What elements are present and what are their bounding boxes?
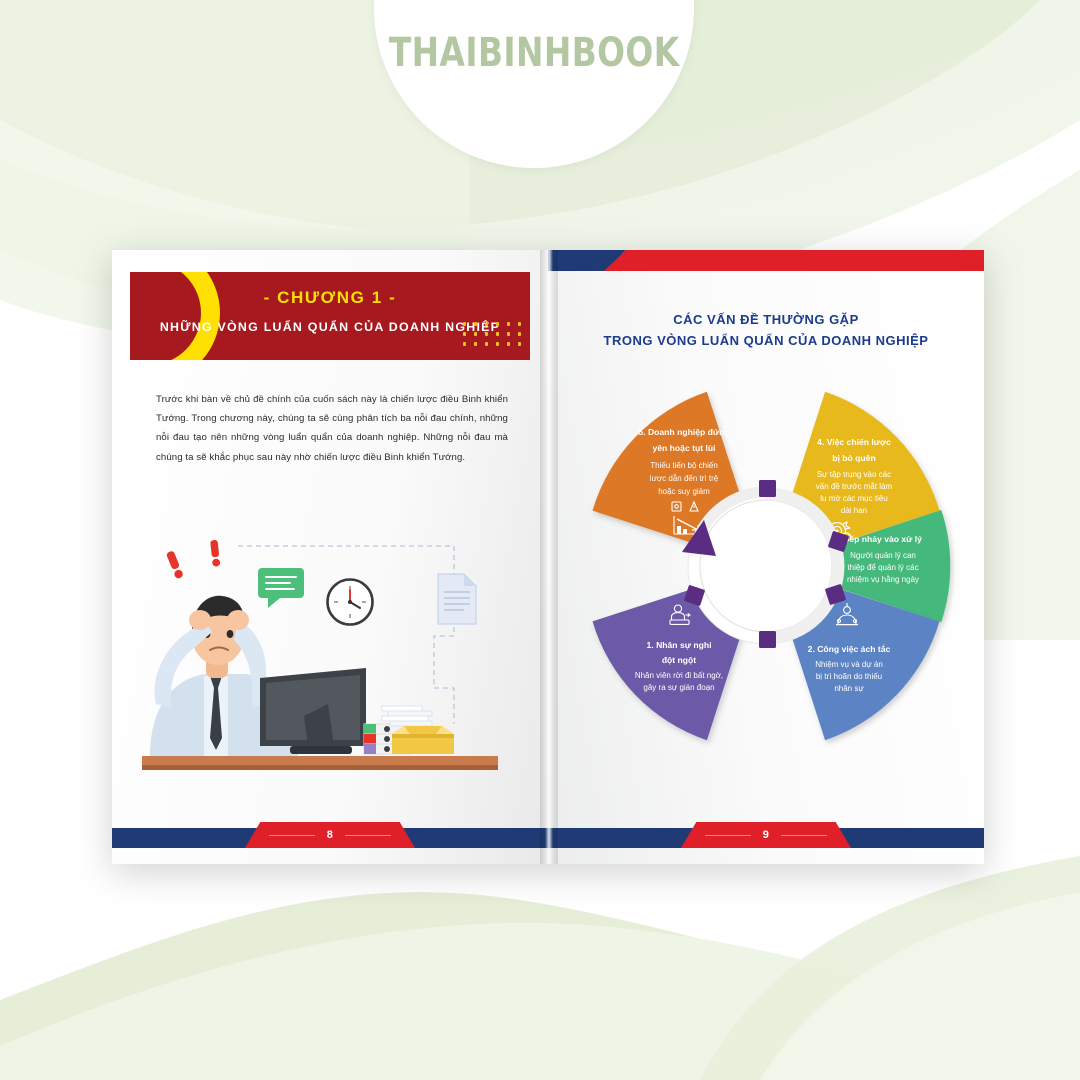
segment-3-desc-line2: thiệp để quản lý các <box>847 563 918 572</box>
book-spread: - CHƯƠNG 1 - NHỮNG VÒNG LUẨN QUẨN CỦA DO… <box>112 250 984 864</box>
page-number-tab: 9 <box>681 822 851 848</box>
cycle-diagram: 5. Doanh nghiệp đứng yên hoặc tụt lùi Th… <box>566 356 966 776</box>
bg-wave-bottom-b <box>0 923 1080 1080</box>
bg-wave-bottom-a <box>0 892 1080 1080</box>
chapter-header-banner: - CHƯƠNG 1 - NHỮNG VÒNG LUẨN QUẨN CỦA DO… <box>130 272 530 360</box>
segment-3-desc-line1: Người quản lý can <box>850 551 916 560</box>
diagram-title: CÁC VẤN ĐỀ THƯỜNG GẶP TRONG VÒNG LUẨN QU… <box>548 310 984 352</box>
dashed-path-bottom <box>434 636 454 724</box>
stressed-businessman-illustration <box>142 528 542 786</box>
segment-2-desc-line3: nhân sự <box>834 684 864 693</box>
brand-badge: THAIBINHBOOK <box>374 0 694 168</box>
segment-1-desc-line1: Nhân viên rời đi bất ngờ, <box>635 671 723 680</box>
chapter-arc-decoration <box>130 272 220 360</box>
desk-surface <box>142 756 498 765</box>
page-number: 8 <box>327 829 334 841</box>
bg-wave-bottom-right-2 <box>760 892 1080 1080</box>
bg-wave-bottom-right <box>700 856 1080 1080</box>
segment-2-desc-line1: Nhiệm vụ và dự án <box>815 660 883 669</box>
segment-5-title-line1: 5. Doanh nghiệp đứng <box>638 427 729 437</box>
dot-grid-decoration <box>460 320 524 348</box>
page-footer-left: 8 <box>112 822 548 848</box>
wall-clock-icon <box>328 580 373 625</box>
diagram-title-line1: CÁC VẤN ĐỀ THƯỜNG GẶP <box>548 310 984 331</box>
segment-4-desc-line2: vấn đề trước mắt làm <box>816 482 893 491</box>
segment-1-title-line1: 1. Nhân sự nghỉ <box>647 640 713 650</box>
segment-4-title-line2: bị bỏ quên <box>832 453 875 463</box>
center-ring-inner <box>700 500 832 632</box>
alert-exclamations <box>166 540 221 580</box>
header-red-bar <box>626 250 984 271</box>
segment-3-desc-line3: nhiệm vụ hằng ngày <box>847 575 919 584</box>
segment-2-desc-line2: bị trì hoãn do thiếu <box>816 672 882 681</box>
segment-4-desc-line4: dài hạn <box>841 506 867 515</box>
chapter-label: - CHƯƠNG 1 - <box>130 288 530 308</box>
segment-5-title-line2: yên hoặc tụt lùi <box>652 443 715 453</box>
book-page-left: - CHƯƠNG 1 - NHỮNG VÒNG LUẨN QUẨN CỦA DO… <box>112 250 548 864</box>
segment-1-desc-line2: gây ra sự gián đoạn <box>643 683 714 692</box>
paper-stack <box>382 706 432 726</box>
marker-bottom <box>759 631 776 648</box>
chat-bubble-icon <box>258 568 304 608</box>
page-number: 9 <box>763 829 770 841</box>
document-icon <box>438 574 476 624</box>
diagram-title-line2: TRONG VÒNG LUẨN QUẨN CỦA DOANH NGHIỆP <box>548 331 984 352</box>
segment-5-desc-line1: Thiếu tiến bộ chiến <box>650 461 718 470</box>
book-page-right: CÁC VẤN ĐỀ THƯỜNG GẶP TRONG VÒNG LUẨN QU… <box>548 250 984 864</box>
computer-monitor <box>260 668 366 754</box>
screenshot-canvas: THAIBINHBOOK - CHƯƠNG 1 - NHỮNG VÒNG LUẨ… <box>0 0 1080 1080</box>
segment-2-title: 2. Công việc ách tắc <box>808 643 891 654</box>
book-spine <box>540 250 558 864</box>
chapter-body-text: Trước khi bàn về chủ đề chính của cuốn s… <box>156 390 508 467</box>
segment-5-desc-line2: lược dẫn đến trì trệ <box>650 474 719 483</box>
segment-4-desc-line3: lu mờ các mục tiêu <box>820 494 888 503</box>
segment-4-desc-line1: Sự tập trung vào các <box>817 470 891 479</box>
segment-5-desc-line3: hoặc suy giảm <box>658 487 710 496</box>
page-footer-right: 9 <box>548 822 984 848</box>
brand-name: THAIBINHBOOK <box>389 30 680 168</box>
cardboard-box-icon <box>392 726 454 754</box>
marker-top <box>759 480 776 497</box>
segment-4-title-line1: 4. Việc chiến lược <box>817 437 891 447</box>
page-number-tab: 8 <box>245 822 415 848</box>
segment-1-title-line2: đột ngột <box>662 655 696 665</box>
